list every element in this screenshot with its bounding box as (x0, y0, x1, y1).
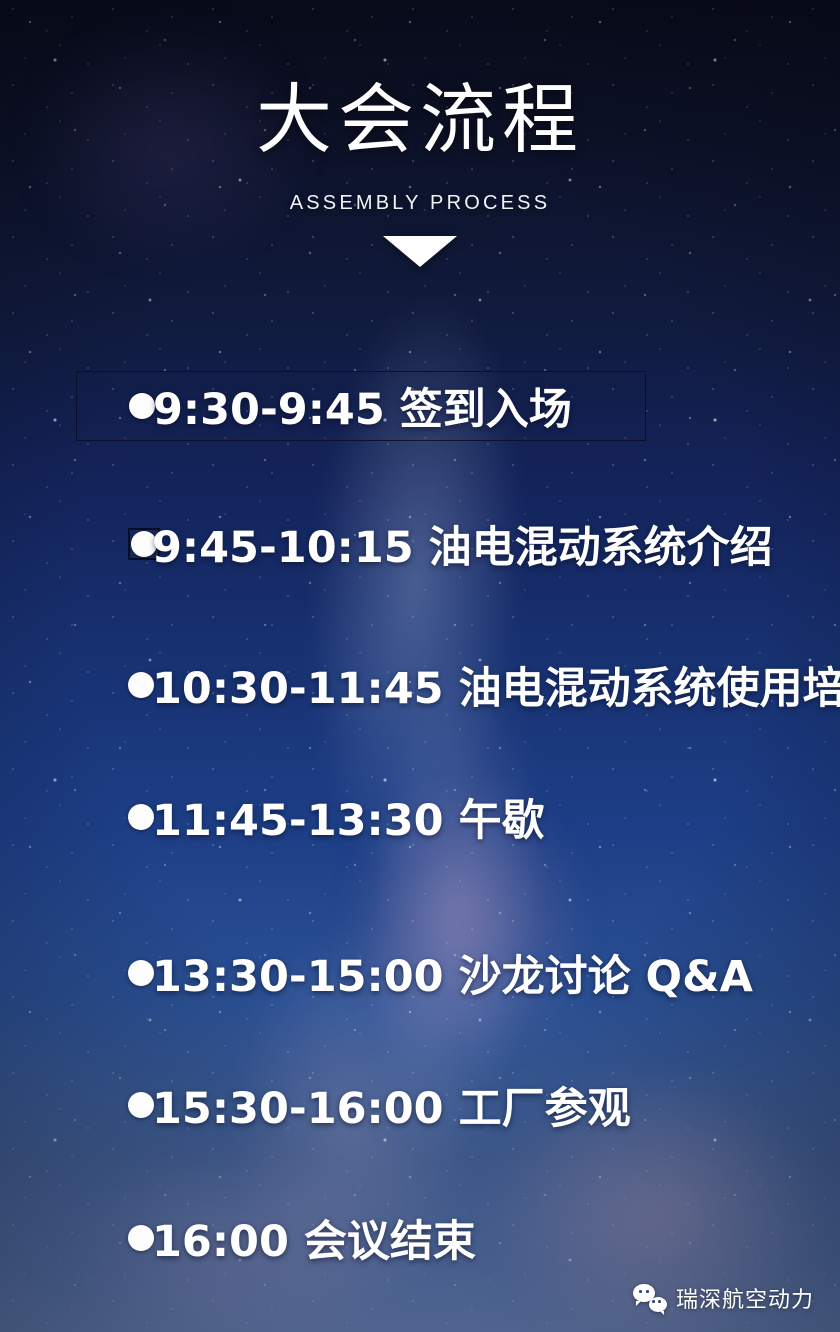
bullet-dot-icon (128, 804, 154, 830)
agenda-item-label: 9:30-9:45 签到入场 (153, 375, 572, 437)
agenda-bullet-wrap (77, 393, 153, 419)
wechat-account-name: 瑞深航空动力 (676, 1282, 814, 1314)
bullet-dot-icon (128, 960, 154, 986)
agenda-item: 16:00 会议结束 (76, 1204, 476, 1272)
agenda-bullet-wrap (76, 1092, 152, 1118)
bullet-dot-icon (128, 672, 154, 698)
agenda-bullet-wrap (76, 804, 152, 830)
page-subtitle: ASSEMBLY PROCESS (0, 192, 840, 215)
agenda-bullet-wrap (76, 1225, 152, 1251)
agenda-item: 9:30-9:45 签到入场 (76, 371, 646, 441)
agenda-bullet-wrap (76, 672, 152, 698)
page-title: 大会流程 (0, 82, 840, 158)
agenda-item-label: 9:45-10:15 油电混动系统介绍 (152, 513, 773, 575)
agenda-item-label: 10:30-11:45 油电混动系统使用培训 (152, 654, 840, 716)
agenda-item: 9:45-10:15 油电混动系统介绍 (76, 510, 773, 578)
agenda-bullet-wrap (76, 960, 152, 986)
bullet-dot-icon (128, 1225, 154, 1251)
poster-content: 大会流程 ASSEMBLY PROCESS 9:30-9:45 签到入场9:45… (0, 0, 840, 1332)
agenda-item-label: 16:00 会议结束 (152, 1207, 476, 1269)
agenda-item: 11:45-13:30 午歇 (76, 783, 545, 851)
agenda-item-label: 11:45-13:30 午歇 (152, 786, 545, 848)
agenda-item-label: 15:30-16:00 工厂参观 (152, 1074, 631, 1136)
agenda-bullet-wrap (76, 528, 152, 560)
bullet-dot-icon (128, 1092, 154, 1118)
agenda-item: 13:30-15:00 沙龙讨论 Q&A (76, 939, 753, 1007)
poster-canvas: 大会流程 ASSEMBLY PROCESS 9:30-9:45 签到入场9:45… (0, 0, 840, 1332)
triangle-down-icon (383, 236, 457, 267)
agenda-item-label: 13:30-15:00 沙龙讨论 Q&A (152, 942, 753, 1004)
bullet-dot-icon (129, 393, 155, 419)
agenda-item: 10:30-11:45 油电混动系统使用培训 (76, 651, 840, 719)
agenda-item: 15:30-16:00 工厂参观 (76, 1071, 631, 1139)
footer-watermark: 瑞深航空动力 (633, 1282, 814, 1314)
wechat-icon (633, 1284, 667, 1312)
